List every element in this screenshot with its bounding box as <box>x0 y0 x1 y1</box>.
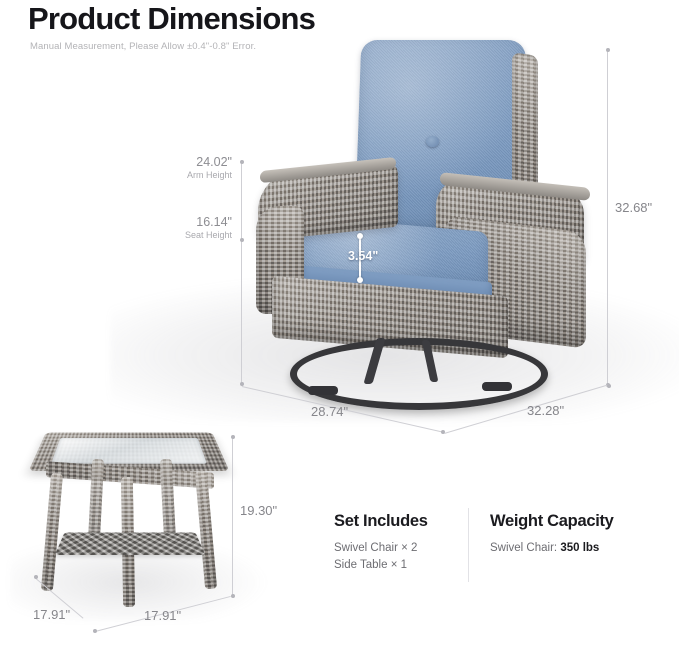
weight-capacity-label: Swivel Chair: <box>490 542 557 554</box>
chair-depth-value: 32.28" <box>527 403 564 418</box>
product-dimensions-infographic: Product Dimensions Manual Measurement, P… <box>0 0 679 656</box>
overall-height-dot-top <box>606 48 610 52</box>
table-width-value: 17.91" <box>144 608 181 623</box>
table-depth-value: 17.91" <box>33 607 70 622</box>
seat-height-label: 16.14" Seat Height <box>120 215 232 240</box>
arm-height-dot <box>240 160 244 164</box>
weight-capacity-value: 350 lbs <box>560 542 599 554</box>
cushion-thickness-dot-top <box>357 233 363 239</box>
seat-height-dot <box>240 238 244 242</box>
weight-capacity-block: Weight Capacity Swivel Chair: 350 lbs <box>490 512 614 557</box>
table-glass-top <box>51 438 207 464</box>
chair-width-value: 28.74" <box>311 404 348 419</box>
set-includes-block: Set Includes Swivel Chair × 2 Side Table… <box>334 512 428 574</box>
page-title: Product Dimensions <box>28 2 315 36</box>
chair-left-dimension-line <box>241 160 242 385</box>
arm-height-value: 24.02" <box>120 155 232 169</box>
weight-capacity-row: Swivel Chair: 350 lbs <box>490 540 614 557</box>
table-height-dot-top <box>231 435 235 439</box>
cushion-tuft-button <box>426 136 439 147</box>
swivel-base-foot-right <box>482 382 512 391</box>
chair-overall-height-value: 32.68" <box>615 200 652 215</box>
arm-height-caption: Arm Height <box>120 170 232 180</box>
chair-base-right-dot <box>607 384 611 388</box>
side-table-illustration <box>30 415 235 610</box>
table-base-left-dot <box>34 575 38 579</box>
set-includes-title: Set Includes <box>334 512 428 531</box>
table-base-front-dot <box>93 629 97 633</box>
swivel-base-foot-left <box>308 386 338 395</box>
swivel-chair-illustration <box>250 38 595 390</box>
info-divider <box>468 508 469 582</box>
seat-height-caption: Seat Height <box>120 230 232 240</box>
table-height-value: 19.30" <box>240 503 277 518</box>
arm-height-label: 24.02" Arm Height <box>120 155 232 180</box>
swivel-base-ring <box>290 338 548 410</box>
table-height-dot-bottom <box>231 594 235 598</box>
cushion-thickness-dot-bottom <box>357 277 363 283</box>
table-lower-shelf <box>55 533 205 555</box>
seat-height-value: 16.14" <box>120 215 232 229</box>
set-includes-item-table: Side Table × 1 <box>334 557 428 574</box>
measurement-disclaimer: Manual Measurement, Please Allow ±0.4"-0… <box>30 41 256 52</box>
chair-overall-height-line <box>607 50 608 386</box>
table-height-dimension-line <box>232 437 233 597</box>
cushion-thickness-value: 3.54" <box>348 249 378 263</box>
weight-capacity-title: Weight Capacity <box>490 512 614 531</box>
set-includes-item-chair: Swivel Chair × 2 <box>334 540 428 557</box>
